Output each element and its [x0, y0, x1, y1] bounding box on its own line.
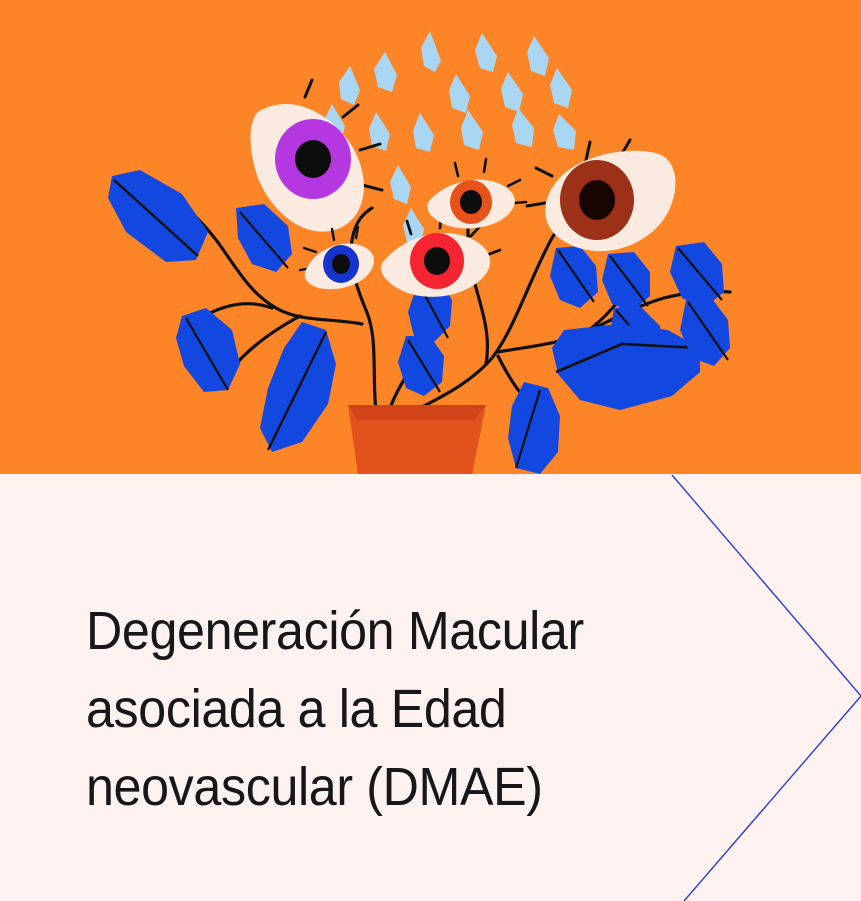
eye-pupil — [579, 180, 615, 220]
title-block: Degeneración Macular asociada a la Edad … — [86, 592, 726, 826]
potted-eye-plant-illustration — [0, 0, 861, 474]
eye-pupil — [424, 247, 450, 275]
eye-pupil — [295, 140, 331, 178]
page-root: Degeneración Macular asociada a la Edad … — [0, 0, 861, 901]
flower-pot — [348, 405, 486, 474]
hero-illustration-banner — [0, 0, 861, 474]
eye-pupil — [332, 254, 350, 274]
eye-pupil — [460, 190, 482, 214]
page-title: Degeneración Macular asociada a la Edad … — [86, 592, 681, 826]
